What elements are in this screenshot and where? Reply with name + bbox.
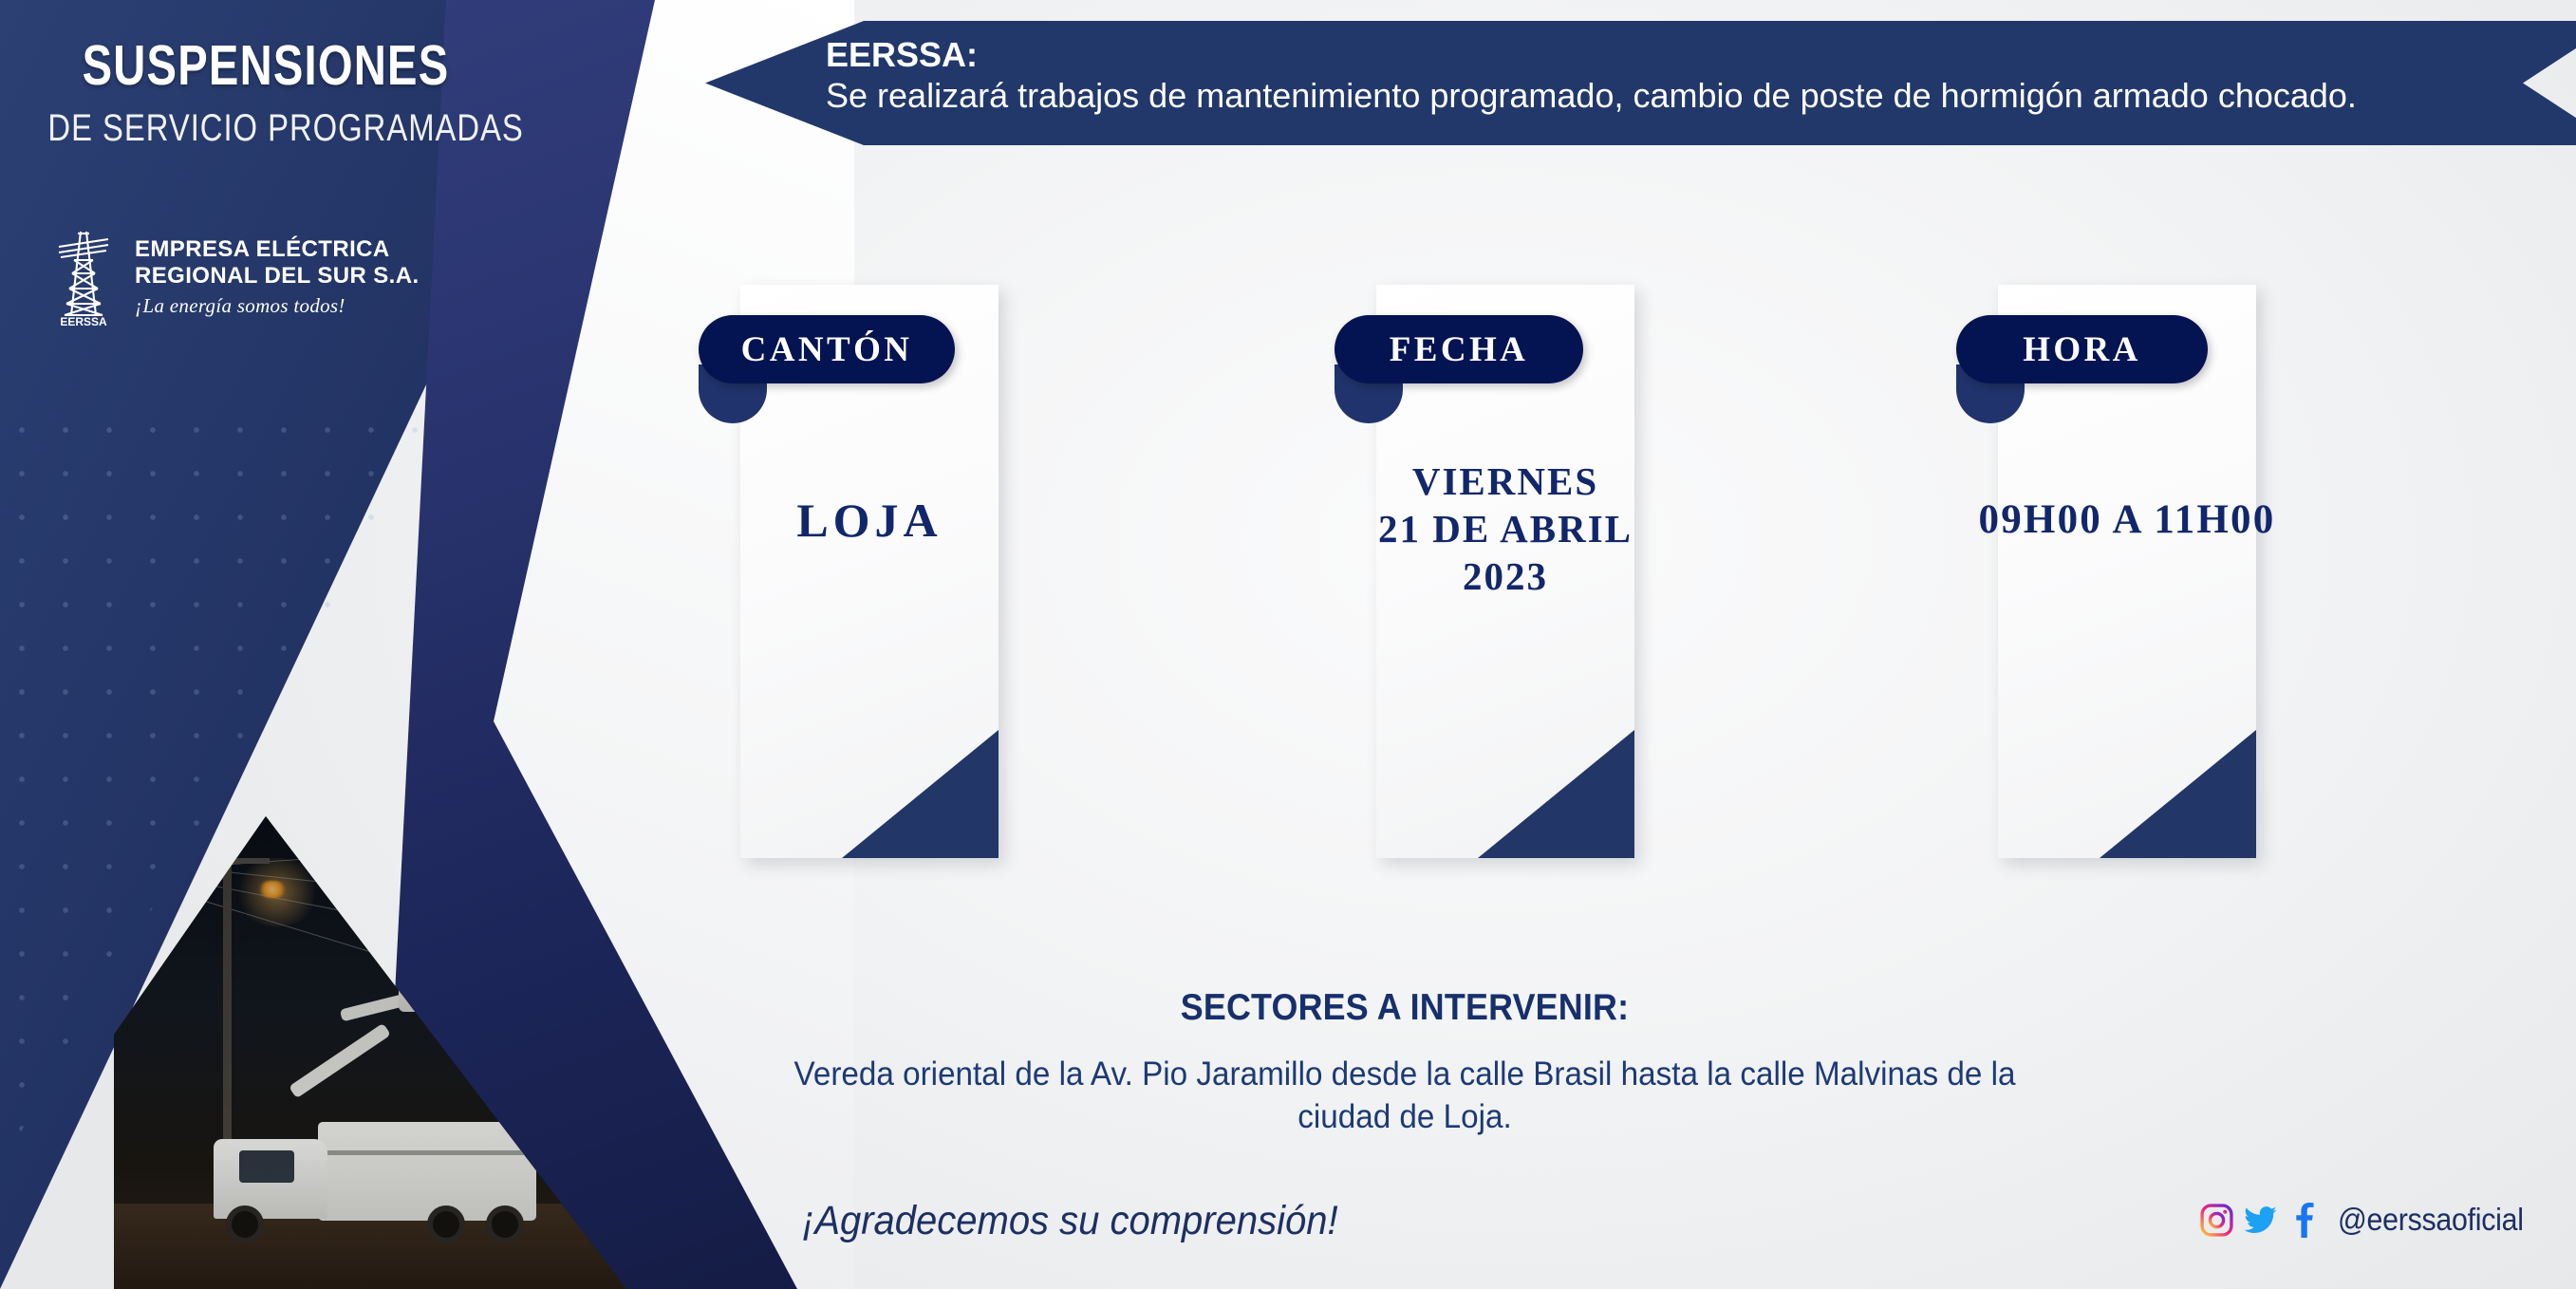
left-brand-panel: SUSPENSIONES DE SERVICIO PROGRAMADAS EER… — [0, 0, 854, 1289]
info-card-hora: HORA 09H00 A 11H00 — [1998, 285, 2256, 858]
card-label-pill: HORA — [1956, 315, 2208, 383]
page-title: SUSPENSIONES — [53, 38, 478, 94]
card-label-pill-wrap: HORA — [1956, 315, 2208, 383]
sectors-description: Vereda oriental de la Av. Pio Jaramillo … — [756, 1054, 2054, 1139]
card-label-pill: FECHA — [1335, 315, 1583, 383]
card-label-pill-wrap: CANTÓN — [699, 315, 955, 383]
logo-line-1: EMPRESA ELÉCTRICA — [135, 236, 420, 263]
card-label-canton: CANTÓN — [741, 329, 913, 370]
logo-slogan: ¡La energía somos todos! — [135, 294, 420, 318]
card-label-fecha: FECHA — [1390, 329, 1529, 370]
thanks-message: ¡Agradecemos su comprensión! — [802, 1198, 1338, 1244]
info-card-canton: CANTÓN LOJA — [740, 285, 999, 858]
sectors-heading: SECTORES A INTERVENIR: — [793, 987, 2016, 1029]
card-label-hora: HORA — [2023, 329, 2141, 370]
instagram-icon[interactable] — [2199, 1203, 2234, 1238]
notice-banner-lead: EERSSA: — [826, 34, 2496, 75]
social-links[interactable]: @eerssaoficial — [2199, 1202, 2540, 1238]
info-cards: CANTÓN LOJA FECHA VIERNES 21 DE ABRIL 20… — [740, 285, 2449, 892]
poster-canvas: SUSPENSIONES DE SERVICIO PROGRAMADAS EER… — [0, 0, 2576, 1289]
twitter-icon[interactable] — [2243, 1203, 2278, 1238]
poster-title-block: SUSPENSIONES DE SERVICIO PROGRAMADAS — [0, 38, 532, 147]
transmission-tower-icon: EERSSA — [49, 228, 118, 327]
notice-banner-text: EERSSA: Se realizará trabajos de manteni… — [826, 34, 2496, 116]
page-subtitle: DE SERVICIO PROGRAMADAS — [47, 109, 483, 147]
info-card-fecha: FECHA VIERNES 21 DE ABRIL 2023 — [1376, 285, 1634, 858]
card-value-hora: 09H00 A 11H00 — [1960, 495, 2294, 545]
notice-banner-body: Se realizará trabajos de mantenimiento p… — [826, 76, 2357, 115]
card-label-pill: CANTÓN — [699, 315, 955, 383]
card-value-fecha: VIERNES 21 DE ABRIL 2023 — [1338, 458, 1672, 600]
card-label-pill-wrap: FECHA — [1335, 315, 1583, 383]
card-value-canton: LOJA — [702, 492, 1036, 550]
logo-mark-text: EERSSA — [60, 315, 107, 327]
social-handle[interactable]: @eerssaoficial — [2338, 1202, 2524, 1238]
facebook-icon[interactable] — [2287, 1203, 2322, 1238]
eerssa-logo: EERSSA EMPRESA ELÉCTRICA REGIONAL DEL SU… — [49, 228, 420, 327]
logo-line-2: REGIONAL DEL SUR S.A. — [135, 263, 420, 290]
